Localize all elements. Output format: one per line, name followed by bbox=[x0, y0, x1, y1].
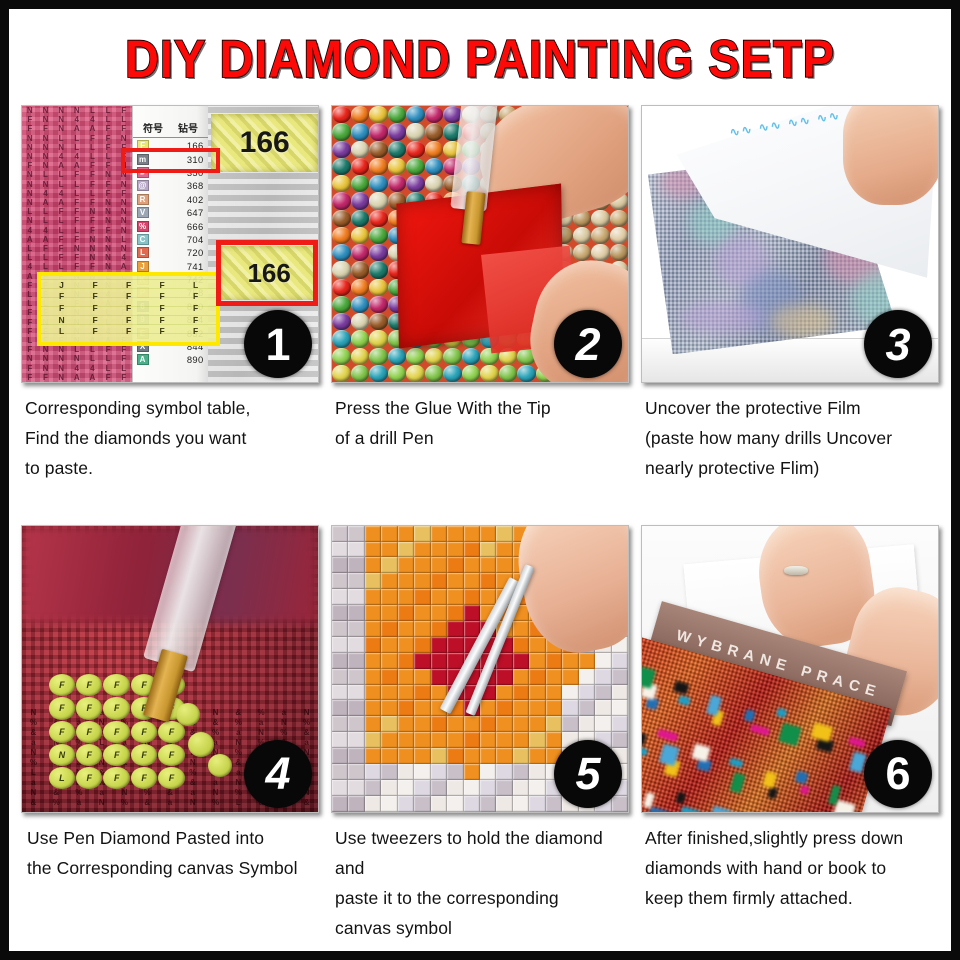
square-diamond bbox=[414, 732, 430, 748]
square-diamond bbox=[447, 557, 463, 573]
square-diamond bbox=[332, 685, 348, 701]
canvas-symbol: L bbox=[85, 345, 101, 354]
canvas-symbol: L bbox=[38, 262, 54, 271]
diamond-bead bbox=[369, 175, 388, 192]
square-diamond bbox=[398, 637, 414, 653]
canvas-symbol: L bbox=[22, 768, 45, 778]
canvas-symbol: L bbox=[100, 106, 116, 115]
canvas-symbol: N bbox=[69, 354, 85, 363]
square-diamond bbox=[414, 796, 430, 812]
square-diamond bbox=[513, 669, 529, 685]
square-diamond bbox=[480, 557, 496, 573]
diamond-bead bbox=[332, 330, 351, 347]
square-diamond bbox=[595, 700, 611, 716]
canvas-symbol: N bbox=[100, 216, 116, 225]
canvas-symbol: L bbox=[85, 354, 101, 363]
symbol-table-row: @368 bbox=[133, 179, 209, 192]
square-diamond bbox=[381, 557, 397, 573]
diamond-bead bbox=[406, 158, 425, 175]
canvas-symbol: N bbox=[100, 244, 116, 253]
square-diamond bbox=[348, 637, 364, 653]
patch-symbol: F bbox=[179, 303, 213, 315]
canvas-symbol: N bbox=[22, 134, 38, 143]
canvas-symbol: a bbox=[22, 738, 45, 748]
square-diamond bbox=[447, 732, 463, 748]
step-5-caption: Use tweezers to hold the diamond and pas… bbox=[331, 813, 629, 943]
diamond-bead bbox=[388, 365, 407, 382]
square-diamond bbox=[496, 748, 512, 764]
canvas-symbol: F bbox=[85, 161, 101, 170]
square-diamond bbox=[348, 700, 364, 716]
canvas-symbol: F bbox=[22, 161, 38, 170]
canvas-symbol: L bbox=[116, 115, 132, 124]
square-diamond bbox=[381, 605, 397, 621]
square-diamond bbox=[332, 573, 348, 589]
finger-ring bbox=[784, 566, 808, 576]
art-color-speck bbox=[641, 745, 648, 757]
square-diamond bbox=[612, 796, 628, 812]
canvas-symbol: N bbox=[227, 738, 250, 748]
caption-line: of a drill Pen bbox=[335, 423, 627, 453]
canvas-symbol: & bbox=[22, 728, 45, 738]
diamond-bead bbox=[425, 141, 444, 158]
canvas-symbol: L bbox=[100, 364, 116, 373]
square-diamond bbox=[513, 764, 529, 780]
step-4: N%&aN%LaN&%aN%&aN%LaN&%aN%&aN%LaN&%aN%&a… bbox=[21, 525, 319, 943]
square-diamond bbox=[612, 669, 628, 685]
canvas-symbol: F bbox=[100, 180, 116, 189]
caption-line: Use tweezers to hold the diamond and bbox=[335, 823, 627, 883]
art-color-speck bbox=[800, 786, 810, 796]
caption-line: keep them firmly attached. bbox=[645, 883, 937, 913]
square-diamond bbox=[332, 748, 348, 764]
symbol-table-header: 符号 钻号 bbox=[133, 120, 209, 138]
diamond-bead bbox=[351, 244, 370, 261]
placed-drill: F bbox=[103, 767, 129, 789]
square-diamond bbox=[579, 700, 595, 716]
square-diamond bbox=[381, 716, 397, 732]
diamond-bead bbox=[610, 227, 629, 244]
square-diamond bbox=[546, 669, 562, 685]
canvas-symbol: % bbox=[227, 748, 250, 758]
square-diamond bbox=[398, 573, 414, 589]
canvas-symbol: F bbox=[85, 216, 101, 225]
diamond-bead bbox=[369, 330, 388, 347]
diamond-bead bbox=[351, 365, 370, 382]
canvas-symbol: L bbox=[69, 226, 85, 235]
step-1: NNNNLLFFNN44LLFFNAAFFNNLLFFNNNNLLFFNN44L… bbox=[21, 105, 319, 519]
square-diamond bbox=[431, 748, 447, 764]
square-diamond bbox=[414, 542, 430, 558]
mosaic-color-blob bbox=[770, 305, 835, 338]
canvas-symbol: N bbox=[53, 373, 69, 382]
canvas-symbol: % bbox=[227, 718, 250, 728]
canvas-symbol: F bbox=[100, 161, 116, 170]
canvas-symbol: F bbox=[38, 373, 54, 382]
canvas-symbol: & bbox=[22, 798, 45, 808]
diamond-bead bbox=[369, 123, 388, 140]
square-diamond bbox=[529, 700, 545, 716]
art-color-speck bbox=[641, 730, 647, 746]
canvas-symbol: L bbox=[69, 143, 85, 152]
canvas-symbol: A bbox=[69, 124, 85, 133]
square-diamond bbox=[365, 780, 381, 796]
diamond-bead bbox=[351, 141, 370, 158]
canvas-symbol: 4 bbox=[116, 253, 132, 262]
canvas-symbol: N bbox=[53, 115, 69, 124]
art-color-speck bbox=[729, 757, 744, 768]
patch-symbol: F bbox=[179, 315, 213, 327]
canvas-symbol: L bbox=[100, 354, 116, 363]
art-color-speck bbox=[678, 696, 691, 706]
canvas-symbol: L bbox=[116, 235, 132, 244]
art-color-speck bbox=[848, 737, 866, 749]
square-diamond bbox=[496, 796, 512, 812]
canvas-symbol: F bbox=[116, 106, 132, 115]
diamond-bead bbox=[332, 348, 351, 365]
step-2-caption: Press the Glue With the Tip of a drill P… bbox=[331, 383, 629, 453]
placed-drill: F bbox=[131, 721, 157, 743]
caption-line: After finished,slightly press down bbox=[645, 823, 937, 853]
canvas-symbol: N bbox=[53, 354, 69, 363]
square-diamond bbox=[332, 589, 348, 605]
diamond-bead bbox=[406, 348, 425, 365]
canvas-symbol: N bbox=[69, 244, 85, 253]
diamond-bead bbox=[406, 175, 425, 192]
step-1-photo: NNNNLLFFNN44LLFFNAAFFNNLLFFNNNNLLFFNN44L… bbox=[21, 105, 319, 383]
square-diamond bbox=[496, 685, 512, 701]
diamond-bead bbox=[332, 158, 351, 175]
diamond-bead bbox=[351, 227, 370, 244]
canvas-symbol: L bbox=[38, 170, 54, 179]
canvas-symbol: % bbox=[204, 798, 227, 808]
diamond-bead bbox=[591, 244, 610, 261]
square-diamond bbox=[431, 526, 447, 542]
red-bag-highlight bbox=[216, 240, 318, 306]
canvas-symbol: N bbox=[116, 216, 132, 225]
canvas-symbol: N bbox=[38, 161, 54, 170]
square-diamond bbox=[332, 716, 348, 732]
square-diamond bbox=[414, 605, 430, 621]
square-diamond bbox=[381, 637, 397, 653]
canvas-symbol: N bbox=[53, 106, 69, 115]
diamond-bead bbox=[369, 348, 388, 365]
square-diamond bbox=[332, 732, 348, 748]
square-diamond bbox=[480, 526, 496, 542]
square-diamond bbox=[496, 764, 512, 780]
art-color-speck bbox=[834, 800, 856, 813]
patch-symbol: F bbox=[45, 303, 79, 315]
square-diamond bbox=[348, 748, 364, 764]
diamond-bead bbox=[332, 227, 351, 244]
square-diamond bbox=[447, 526, 463, 542]
canvas-symbol: L bbox=[22, 299, 38, 308]
square-diamond bbox=[381, 700, 397, 716]
square-diamond bbox=[365, 589, 381, 605]
symbol-swatch: % bbox=[137, 221, 149, 232]
drill-code: 647 bbox=[187, 207, 204, 218]
steps-grid: NNNNLLFFNN44LLFFNAAFFNNLLFFNNNNLLFFNN44L… bbox=[21, 105, 939, 943]
step-3-photo: ∿∿ ∿∿ ∿∿ ∿∿ 3 bbox=[641, 105, 939, 383]
diamond-bead bbox=[425, 158, 444, 175]
canvas-symbol: N bbox=[22, 106, 38, 115]
canvas-symbol: N bbox=[116, 244, 132, 253]
canvas-symbol: N bbox=[22, 143, 38, 152]
square-diamond bbox=[332, 542, 348, 558]
canvas-symbol: N bbox=[116, 180, 132, 189]
square-diamond bbox=[348, 732, 364, 748]
canvas-symbol: a bbox=[22, 778, 45, 788]
canvas-symbol: F bbox=[53, 253, 69, 262]
diamond-bead bbox=[480, 365, 499, 382]
canvas-symbol: F bbox=[69, 216, 85, 225]
canvas-symbol: F bbox=[116, 373, 132, 382]
square-diamond bbox=[529, 748, 545, 764]
canvas-symbol: L bbox=[22, 290, 38, 299]
step-5: 5 Use tweezers to hold the diamond and p… bbox=[331, 525, 629, 943]
canvas-symbol: 4 bbox=[22, 226, 38, 235]
canvas-symbol: N bbox=[100, 170, 116, 179]
diamond-bead bbox=[332, 296, 351, 313]
square-diamond bbox=[381, 653, 397, 669]
canvas-symbol: L bbox=[53, 180, 69, 189]
canvas-symbol: N bbox=[53, 364, 69, 373]
step-4-caption: Use Pen Diamond Pasted into the Correspo… bbox=[21, 813, 319, 883]
square-diamond bbox=[381, 669, 397, 685]
square-diamond bbox=[348, 526, 364, 542]
square-diamond bbox=[612, 653, 628, 669]
hand-peeling-film bbox=[843, 105, 939, 205]
square-diamond bbox=[480, 589, 496, 605]
patch-symbol: F bbox=[145, 291, 179, 303]
square-diamond bbox=[464, 526, 480, 542]
diamond-bead bbox=[369, 365, 388, 382]
canvas-symbol: N bbox=[38, 106, 54, 115]
canvas-symbol: F bbox=[22, 124, 38, 133]
diamond-bead bbox=[591, 210, 610, 227]
diamond-bead bbox=[351, 313, 370, 330]
canvas-symbol: F bbox=[85, 170, 101, 179]
square-diamond bbox=[381, 780, 397, 796]
canvas-symbol: F bbox=[69, 207, 85, 216]
canvas-symbol: N bbox=[272, 718, 295, 728]
canvas-symbol: N bbox=[22, 152, 38, 161]
diamond-bead bbox=[332, 313, 351, 330]
canvas-symbol: % bbox=[250, 708, 273, 718]
patch-symbol: F bbox=[78, 326, 112, 338]
patch-symbol: F bbox=[179, 326, 213, 338]
diamond-bead bbox=[573, 244, 592, 261]
canvas-symbol: 4 bbox=[38, 189, 54, 198]
patch-symbol: F bbox=[179, 291, 213, 303]
diamond-bead bbox=[369, 141, 388, 158]
canvas-symbol: 4 bbox=[85, 115, 101, 124]
step-1-badge: 1 bbox=[244, 310, 312, 378]
square-diamond bbox=[513, 732, 529, 748]
square-diamond bbox=[612, 716, 628, 732]
square-diamond bbox=[579, 669, 595, 685]
canvas-symbol: F bbox=[22, 373, 38, 382]
step-3-badge: 3 bbox=[864, 310, 932, 378]
square-diamond bbox=[480, 764, 496, 780]
canvas-symbol: F bbox=[100, 143, 116, 152]
diamond-bead bbox=[351, 158, 370, 175]
diamond-bead bbox=[443, 348, 462, 365]
square-diamond bbox=[529, 716, 545, 732]
placed-drill: F bbox=[49, 697, 75, 719]
canvas-symbol: N bbox=[85, 253, 101, 262]
diamond-bead bbox=[351, 279, 370, 296]
square-diamond bbox=[348, 796, 364, 812]
square-diamond bbox=[348, 685, 364, 701]
square-diamond bbox=[398, 653, 414, 669]
square-diamond bbox=[447, 589, 463, 605]
square-diamond bbox=[398, 796, 414, 812]
drill-code: 720 bbox=[187, 247, 204, 258]
canvas-symbol: N bbox=[204, 788, 227, 798]
canvas-symbol: % bbox=[181, 768, 204, 778]
patch-symbol: F bbox=[112, 315, 146, 327]
square-diamond bbox=[381, 526, 397, 542]
canvas-symbol: N bbox=[38, 180, 54, 189]
canvas-symbol: F bbox=[69, 253, 85, 262]
square-diamond bbox=[365, 653, 381, 669]
canvas-symbol: F bbox=[85, 262, 101, 271]
square-diamond bbox=[562, 700, 578, 716]
square-diamond bbox=[365, 732, 381, 748]
canvas-symbol: F bbox=[85, 198, 101, 207]
symbol-swatch: A bbox=[137, 354, 149, 365]
square-diamond bbox=[398, 589, 414, 605]
square-diamond bbox=[447, 780, 463, 796]
square-diamond bbox=[332, 621, 348, 637]
square-diamond bbox=[464, 605, 480, 621]
square-diamond bbox=[381, 796, 397, 812]
canvas-symbol: N bbox=[85, 244, 101, 253]
symbol-column-header: 符号 bbox=[143, 120, 163, 135]
art-color-speck bbox=[709, 806, 733, 813]
square-diamond bbox=[431, 716, 447, 732]
patch-symbol: F bbox=[112, 303, 146, 315]
square-diamond bbox=[431, 573, 447, 589]
square-diamond bbox=[381, 685, 397, 701]
square-diamond bbox=[332, 700, 348, 716]
placed-drill: F bbox=[131, 767, 157, 789]
square-diamond bbox=[464, 542, 480, 558]
canvas-symbol: N bbox=[53, 143, 69, 152]
art-color-speck bbox=[795, 771, 809, 785]
canvas-symbol: 4 bbox=[85, 364, 101, 373]
art-color-speck bbox=[768, 786, 779, 799]
canvas-symbol: % bbox=[295, 718, 318, 728]
caption-line: Uncover the protective Film bbox=[645, 393, 937, 423]
canvas-symbol: 4 bbox=[69, 364, 85, 373]
square-diamond bbox=[431, 589, 447, 605]
canvas-symbol: F bbox=[53, 235, 69, 244]
square-diamond bbox=[546, 700, 562, 716]
diamond-bead bbox=[369, 192, 388, 209]
diamond-bead bbox=[462, 365, 481, 382]
step-6: WYBRANE PRACE 6 After finished,slightly … bbox=[641, 525, 939, 943]
canvas-symbol: a bbox=[204, 778, 227, 788]
canvas-symbol: N bbox=[116, 134, 132, 143]
square-diamond bbox=[513, 653, 529, 669]
square-diamond bbox=[529, 764, 545, 780]
canvas-symbol: a bbox=[250, 718, 273, 728]
canvas-symbol: L bbox=[85, 152, 101, 161]
square-diamond bbox=[431, 542, 447, 558]
canvas-symbol: a bbox=[90, 788, 113, 798]
square-diamond bbox=[381, 748, 397, 764]
canvas-symbol: F bbox=[22, 364, 38, 373]
diamond-bead bbox=[332, 123, 351, 140]
step-6-badge: 6 bbox=[864, 740, 932, 808]
canvas-symbol: L bbox=[85, 143, 101, 152]
diamond-bead bbox=[351, 261, 370, 278]
square-diamond bbox=[365, 605, 381, 621]
diamond-bead bbox=[388, 141, 407, 158]
square-diamond bbox=[513, 685, 529, 701]
square-diamond bbox=[513, 748, 529, 764]
canvas-symbol: F bbox=[22, 318, 38, 327]
patch-symbol: F bbox=[145, 315, 179, 327]
square-diamond bbox=[546, 732, 562, 748]
diamond-bead bbox=[351, 210, 370, 227]
square-diamond bbox=[365, 637, 381, 653]
art-color-speck bbox=[673, 681, 689, 696]
diamond-bead bbox=[425, 348, 444, 365]
diamond-bead bbox=[332, 210, 351, 227]
diamond-bead bbox=[388, 158, 407, 175]
canvas-symbol: A bbox=[69, 161, 85, 170]
diamond-bead bbox=[351, 192, 370, 209]
canvas-symbol: A bbox=[116, 262, 132, 271]
diamond-bead bbox=[610, 244, 629, 261]
canvas-symbol: L bbox=[85, 106, 101, 115]
infographic-page: DIY DIAMOND PAINTING SETP NNNNLLFFNN44LL… bbox=[0, 0, 960, 960]
square-diamond bbox=[480, 732, 496, 748]
canvas-symbol: % bbox=[136, 788, 159, 798]
square-diamond bbox=[480, 748, 496, 764]
canvas-symbol: N bbox=[22, 189, 38, 198]
square-diamond bbox=[513, 780, 529, 796]
canvas-symbol: F bbox=[38, 124, 54, 133]
square-diamond bbox=[447, 605, 463, 621]
step-2-photo: 2 bbox=[331, 105, 629, 383]
square-diamond bbox=[612, 732, 628, 748]
title-container: DIY DIAMOND PAINTING SETP bbox=[9, 31, 951, 86]
placed-drill: F bbox=[49, 674, 75, 696]
square-diamond bbox=[464, 557, 480, 573]
caption-line: (paste how many drills Uncover bbox=[645, 423, 937, 453]
square-diamond bbox=[398, 685, 414, 701]
patch-symbol: F bbox=[45, 291, 79, 303]
canvas-symbol: L bbox=[22, 253, 38, 262]
diamond-bead bbox=[369, 227, 388, 244]
canvas-symbol: N bbox=[38, 115, 54, 124]
canvas-symbol: A bbox=[69, 373, 85, 382]
square-diamond bbox=[381, 764, 397, 780]
art-color-speck bbox=[658, 729, 678, 742]
canvas-symbol: L bbox=[69, 180, 85, 189]
canvas-symbol: F bbox=[22, 345, 38, 354]
canvas-symbol: a bbox=[272, 708, 295, 718]
placed-drill: F bbox=[131, 744, 157, 766]
square-diamond bbox=[414, 700, 430, 716]
canvas-symbol: N bbox=[38, 345, 54, 354]
canvas-symbol: a bbox=[68, 798, 91, 808]
canvas-symbol: & bbox=[204, 718, 227, 728]
